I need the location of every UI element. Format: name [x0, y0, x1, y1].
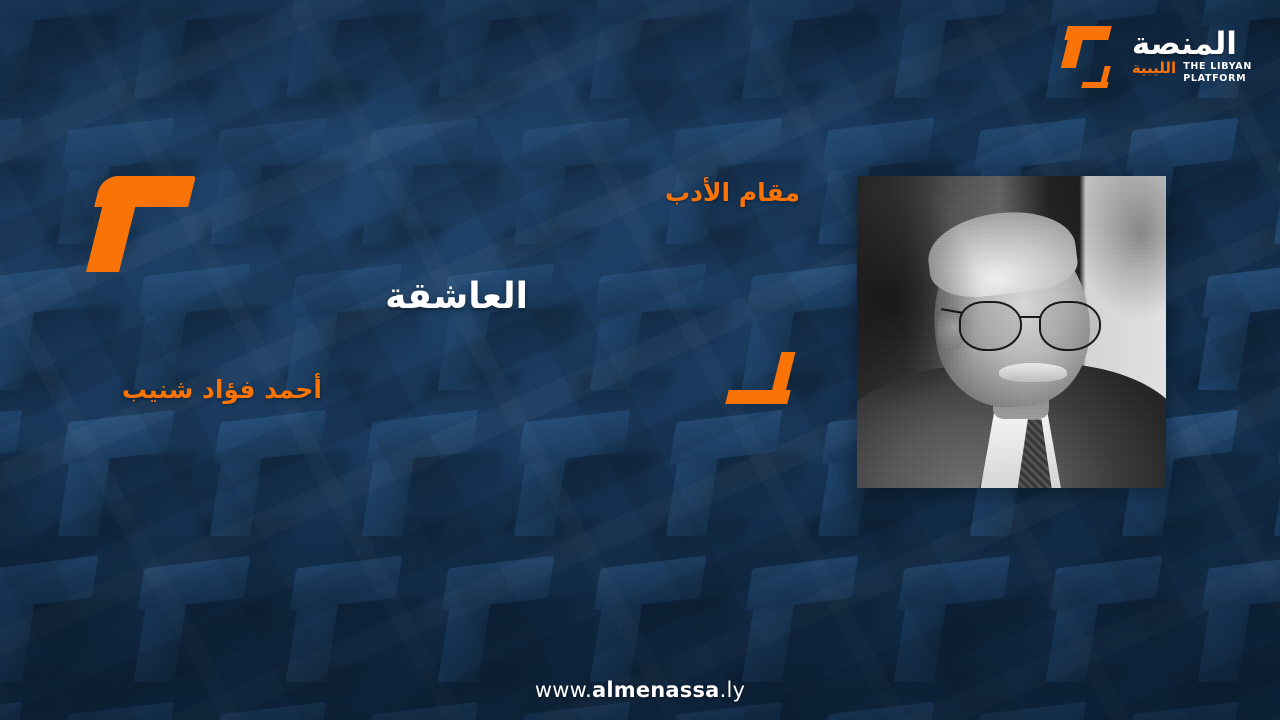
brand-logo[interactable]: المنصة THE LIBYAN PLATFORM الليبية: [1060, 22, 1252, 90]
brand-name-english-line1: THE LIBYAN: [1183, 61, 1252, 72]
brand-logo-text: المنصة THE LIBYAN PLATFORM الليبية: [1132, 28, 1252, 84]
portrait-photo: [857, 176, 1166, 488]
logo-mark-small-corner-icon: [1082, 66, 1108, 88]
section-label: مقام الأدب: [665, 178, 800, 207]
footer-website-url[interactable]: www.almenassa.ly: [0, 678, 1280, 702]
poster-canvas: المنصة THE LIBYAN PLATFORM الليبية مقام …: [0, 0, 1280, 720]
author-name: أحمد فؤاد شنيب: [122, 375, 322, 404]
brand-name-english: THE LIBYAN PLATFORM: [1183, 61, 1252, 83]
portrait-film-grain: [857, 176, 1166, 488]
brand-name-english-line2: PLATFORM: [1183, 73, 1252, 84]
brand-subtitle-row: THE LIBYAN PLATFORM الليبية: [1132, 61, 1252, 83]
footer-url-brand: almenassa: [592, 678, 720, 702]
hook-bracket-logo-icon: [1060, 22, 1122, 90]
portrait-photo-image: [857, 176, 1166, 488]
footer-url-tld: .ly: [720, 678, 746, 702]
orange-hook-bracket-icon: [98, 176, 192, 272]
footer-url-prefix: www.: [535, 678, 592, 702]
brand-name-arabic: المنصة: [1132, 28, 1237, 60]
brand-name-arabic-secondary: الليبية: [1132, 61, 1176, 77]
logo-mark-large-hook-icon: [1066, 26, 1110, 68]
orange-corner-bracket-icon: [727, 352, 789, 404]
page-title: العاشقة: [385, 276, 528, 317]
